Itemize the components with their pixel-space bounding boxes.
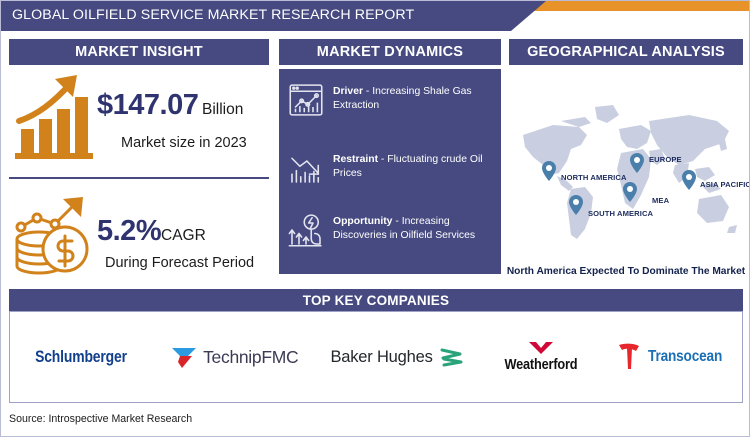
- dynamics-restraint-text: Restraint - Fluctuating crude Oil Prices: [333, 147, 493, 189]
- market-size-value: $147.07: [97, 89, 198, 122]
- infographic-root: GLOBAL OILFIELD SERVICE MARKET RESEARCH …: [0, 0, 750, 437]
- logo-schlumberger[interactable]: Schlumberger: [25, 347, 137, 367]
- map-label-north-america: NORTH AMERICA: [561, 173, 627, 182]
- company-logo-row: Schlumberger TechnipFMC Baker Hughes Wea: [9, 311, 743, 403]
- top-key-companies-title-label: TOP KEY COMPANIES: [303, 293, 449, 308]
- dynamics-driver-label: Driver: [333, 86, 363, 97]
- dynamics-driver-text: Driver - Increasing Shale Gas Extraction: [333, 79, 493, 121]
- page-title: GLOBAL OILFIELD SERVICE MARKET RESEARCH …: [12, 7, 414, 23]
- market-insight-panel: $147.07 Billion Market size in 2023: [9, 65, 269, 169]
- coin-stack-trendline-icon: [13, 191, 101, 277]
- logo-weatherford[interactable]: Weatherford: [498, 341, 584, 373]
- hand-idea-growth-icon: [285, 209, 327, 251]
- cagr-subtitle: During Forecast Period: [105, 255, 254, 271]
- map-label-europe: EUROPE: [649, 155, 682, 164]
- source-note: Source: Introspective Market Research: [9, 413, 192, 425]
- logo-baker-hughes[interactable]: Baker Hughes: [330, 345, 465, 369]
- market-dynamics-title-label: MARKET DYNAMICS: [317, 44, 463, 60]
- logo-baker-hughes-text: Baker Hughes: [330, 348, 432, 367]
- cagr-value: 5.2%: [97, 215, 161, 248]
- map-label-mea: MEA: [652, 196, 669, 205]
- dynamics-item-restraint: Restraint - Fluctuating crude Oil Prices: [285, 147, 493, 189]
- dynamics-opportunity-text: Opportunity - Increasing Discoveries in …: [333, 209, 493, 251]
- market-size-unit: Billion: [202, 101, 243, 119]
- map-pins: [509, 77, 743, 257]
- geographical-analysis-title-label: GEOGRAPHICAL ANALYSIS: [527, 44, 725, 60]
- insight-divider: [9, 177, 269, 179]
- logo-technipfmc-text: TechnipFMC: [203, 347, 298, 368]
- dynamics-item-driver: Driver - Increasing Shale Gas Extraction: [285, 79, 493, 121]
- dynamics-driver-separator: -: [363, 86, 372, 97]
- logo-transocean[interactable]: Transocean: [616, 342, 727, 372]
- declining-bar-chart-icon: [285, 147, 327, 189]
- bar-chart-growth-arrow-icon: [15, 73, 93, 159]
- map-label-south-america: SOUTH AMERICA: [588, 209, 653, 218]
- market-size-subtitle: Market size in 2023: [121, 135, 247, 151]
- dynamics-item-opportunity: Opportunity - Increasing Discoveries in …: [285, 209, 493, 251]
- market-insight-title-bar: MARKET INSIGHT: [9, 39, 269, 65]
- logo-technipfmc[interactable]: TechnipFMC: [169, 343, 298, 371]
- logo-schlumberger-text: Schlumberger: [35, 347, 127, 367]
- technip-arrow-icon: [169, 343, 199, 371]
- dynamics-restraint-separator: -: [378, 154, 387, 165]
- cagr-unit: CAGR: [161, 227, 206, 245]
- top-key-companies-title-bar: TOP KEY COMPANIES: [9, 289, 743, 311]
- geographical-analysis-title-bar: GEOGRAPHICAL ANALYSIS: [509, 39, 743, 65]
- map-caption: North America Expected To Dominate The M…: [506, 266, 746, 277]
- weatherford-heart-icon: [528, 341, 554, 355]
- logo-transocean-text: Transocean: [648, 348, 722, 366]
- header-accent-stripe: [531, 1, 750, 11]
- dynamics-opportunity-label: Opportunity: [333, 216, 392, 227]
- market-dynamics-title-bar: MARKET DYNAMICS: [279, 39, 501, 65]
- market-dynamics-panel: Driver - Increasing Shale Gas Extraction…: [279, 69, 501, 274]
- dynamics-opportunity-separator: -: [392, 216, 401, 227]
- world-map: NORTH AMERICA EUROPE ASIA PACIFIC MEA SO…: [509, 77, 743, 257]
- header: GLOBAL OILFIELD SERVICE MARKET RESEARCH …: [1, 1, 750, 31]
- baker-hughes-chevron-icon: [438, 345, 466, 369]
- transocean-t-icon: [616, 342, 642, 372]
- market-insight-title-label: MARKET INSIGHT: [75, 44, 203, 60]
- map-label-asia-pacific: ASIA PACIFIC: [700, 180, 750, 189]
- logo-weatherford-text: Weatherford: [504, 356, 577, 373]
- cagr-panel: 5.2% CAGR During Forecast Period: [9, 187, 269, 285]
- dynamics-restraint-label: Restraint: [333, 154, 378, 165]
- dashboard-analytics-icon: [285, 79, 327, 121]
